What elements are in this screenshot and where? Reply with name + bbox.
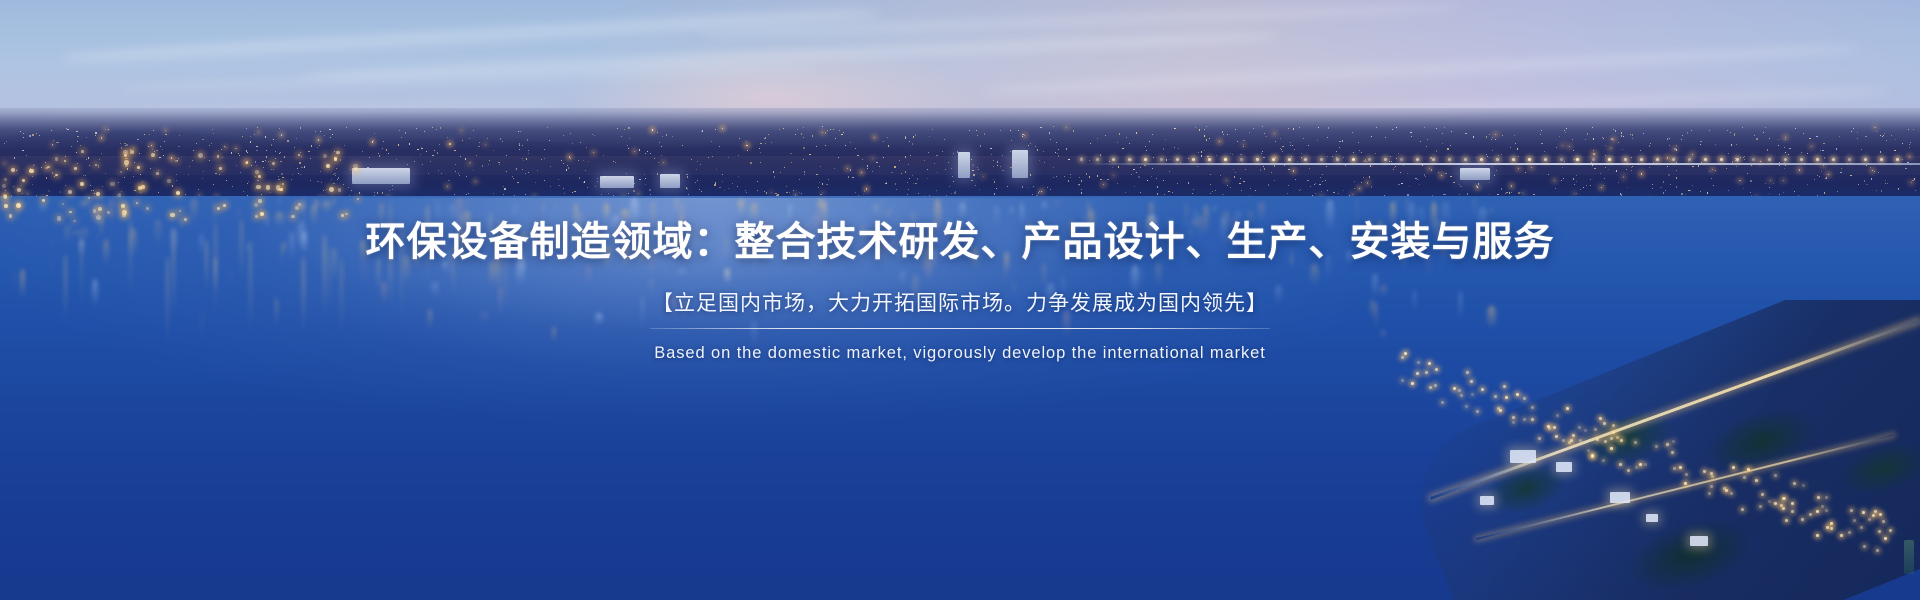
peninsula-landmass (1360, 300, 1920, 600)
left-shore-lights (0, 150, 360, 220)
water-glow (260, 198, 1160, 328)
corner-marker (1904, 540, 1914, 574)
hero-banner: 环保设备制造领域：整合技术研发、产品设计、生产、安装与服务 【立足国内市场，大力… (0, 0, 1920, 600)
bridge (1080, 152, 1920, 178)
bridge-deck (1080, 163, 1920, 165)
